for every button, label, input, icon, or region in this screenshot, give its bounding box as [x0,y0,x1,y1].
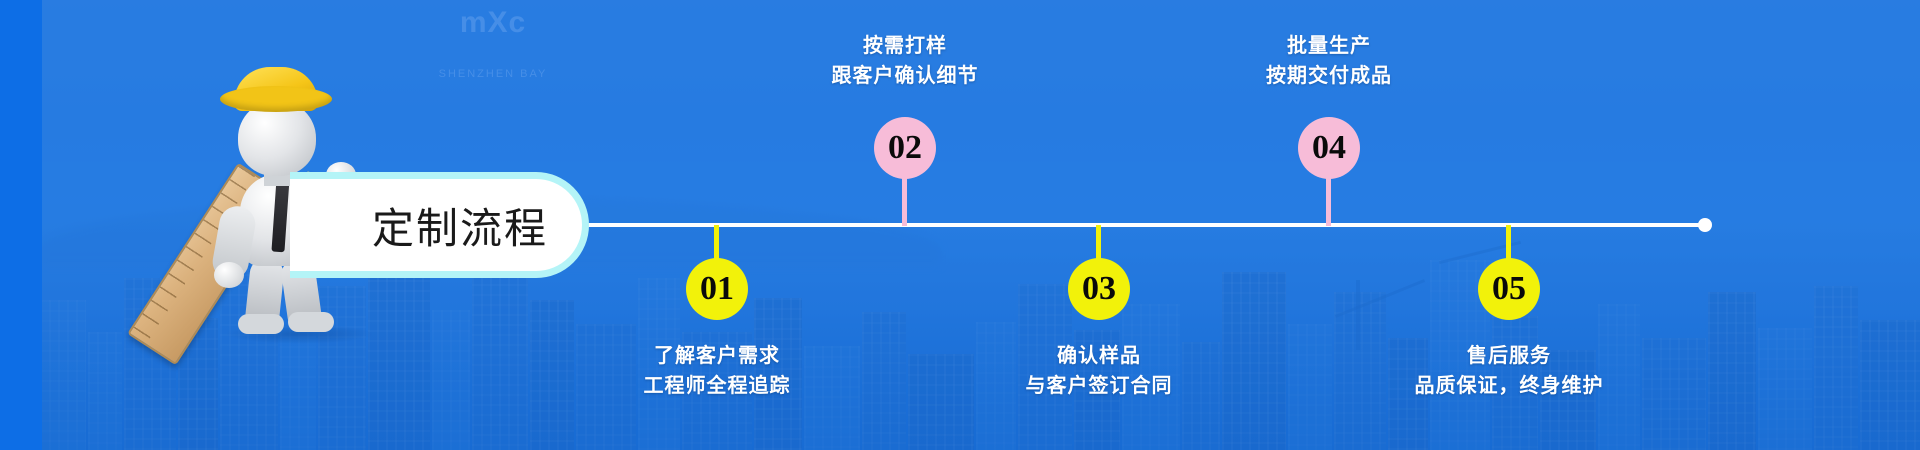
step-04-line1: 批量生产 [1287,33,1371,57]
mascot-hand-left [214,262,244,288]
background-watermark: mXc SHENZHEN BAY [398,6,588,126]
timeline-end-dot [1698,218,1712,232]
step-01-number[interactable]: 01 [686,258,748,320]
watermark-sub: SHENZHEN BAY [398,68,588,80]
step-02-label: 按需打样 跟客户确认细节 [832,30,979,90]
step-03-number[interactable]: 03 [1068,258,1130,320]
step-03-line1: 确认样品 [1057,343,1141,367]
step-04-label: 批量生产 按期交付成品 [1266,30,1392,90]
step-01-label: 了解客户需求 工程师全程追踪 [644,340,791,400]
step-03-line2: 与客户签订合同 [1026,373,1173,397]
mascot-shoe-right [288,312,334,332]
brand-badge: 定制流程 [300,172,589,278]
background-left-band [0,0,42,450]
step-02-line1: 按需打样 [863,33,947,57]
step-03-label: 确认样品 与客户签订合同 [1026,340,1173,400]
hard-hat-brim [220,86,332,112]
customization-process-banner: mXc SHENZHEN BAY 定制流程 01 [0,0,1920,450]
step-05-label: 售后服务 品质保证，终身维护 [1415,340,1604,400]
step-05-line2: 品质保证，终身维护 [1415,373,1604,397]
mascot-shoe-left [238,314,284,334]
step-02-number[interactable]: 02 [874,117,936,179]
step-04-line2: 按期交付成品 [1266,63,1392,87]
brand-badge-label: 定制流程 [372,195,548,256]
step-04-number[interactable]: 04 [1298,117,1360,179]
watermark-mark: mXc [398,6,588,40]
step-05-line1: 售后服务 [1467,343,1551,367]
step-01-line1: 了解客户需求 [654,343,780,367]
step-05-number[interactable]: 05 [1478,258,1540,320]
step-02-line2: 跟客户确认细节 [832,63,979,87]
timeline-rail [575,223,1705,227]
step-01-line2: 工程师全程追踪 [644,373,791,397]
